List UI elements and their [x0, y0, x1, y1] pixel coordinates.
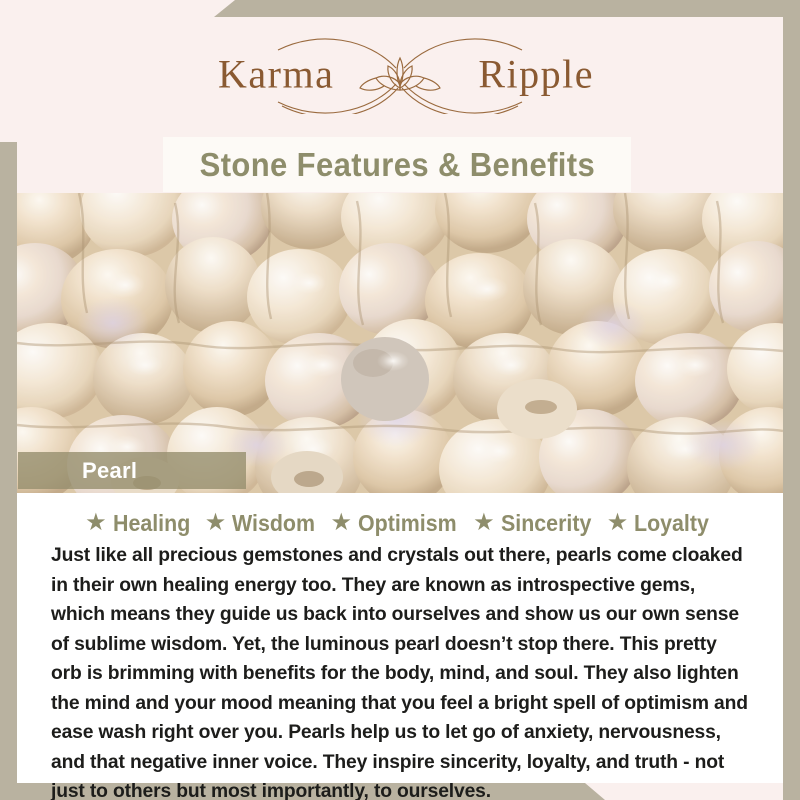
- feature-label: Healing: [113, 510, 190, 537]
- brand-logo-inner: Karma Ripple: [190, 36, 610, 114]
- feature-label: Optimism: [358, 510, 457, 537]
- page-title: Stone Features & Benefits: [199, 146, 595, 184]
- brand-name-left: Karma: [218, 51, 334, 98]
- star-icon: ★: [331, 511, 353, 535]
- content-panel: ★ Healing ★ Wisdom ★ Optimism ★ Sincerit…: [17, 493, 783, 783]
- feature-item-optimism: ★ Optimism: [331, 510, 465, 537]
- feature-item-loyalty: ★ Loyalty: [607, 510, 715, 537]
- description-paragraph: Just like all precious gemstones and cry…: [51, 541, 749, 800]
- pearls-photo: [17, 193, 783, 493]
- stone-name-label: Pearl: [82, 458, 137, 484]
- frame-accent-left: [0, 142, 17, 800]
- feature-label: Loyalty: [634, 510, 709, 537]
- feature-item-healing: ★ Healing: [85, 510, 196, 537]
- brand-name-right: Ripple: [478, 51, 594, 98]
- star-icon: ★: [205, 511, 227, 535]
- frame-accent-top: [214, 0, 800, 17]
- feature-item-sincerity: ★ Sincerity: [473, 510, 598, 537]
- section-title-banner: Stone Features & Benefits: [163, 137, 631, 192]
- star-icon: ★: [85, 511, 107, 535]
- frame-accent-right: [783, 0, 800, 800]
- feature-item-wisdom: ★ Wisdom: [205, 510, 322, 537]
- star-icon: ★: [607, 511, 629, 535]
- star-icon: ★: [473, 511, 495, 535]
- feature-label: Wisdom: [232, 510, 315, 537]
- stone-name-plate: Pearl: [18, 452, 246, 489]
- feature-list: ★ Healing ★ Wisdom ★ Optimism ★ Sincerit…: [17, 493, 783, 537]
- pearls-photo-image: [17, 193, 783, 493]
- infographic-card: Karma Ripple Stone Features & Benefits: [0, 0, 800, 800]
- brand-logo: Karma Ripple: [0, 36, 800, 114]
- feature-label: Sincerity: [501, 510, 591, 537]
